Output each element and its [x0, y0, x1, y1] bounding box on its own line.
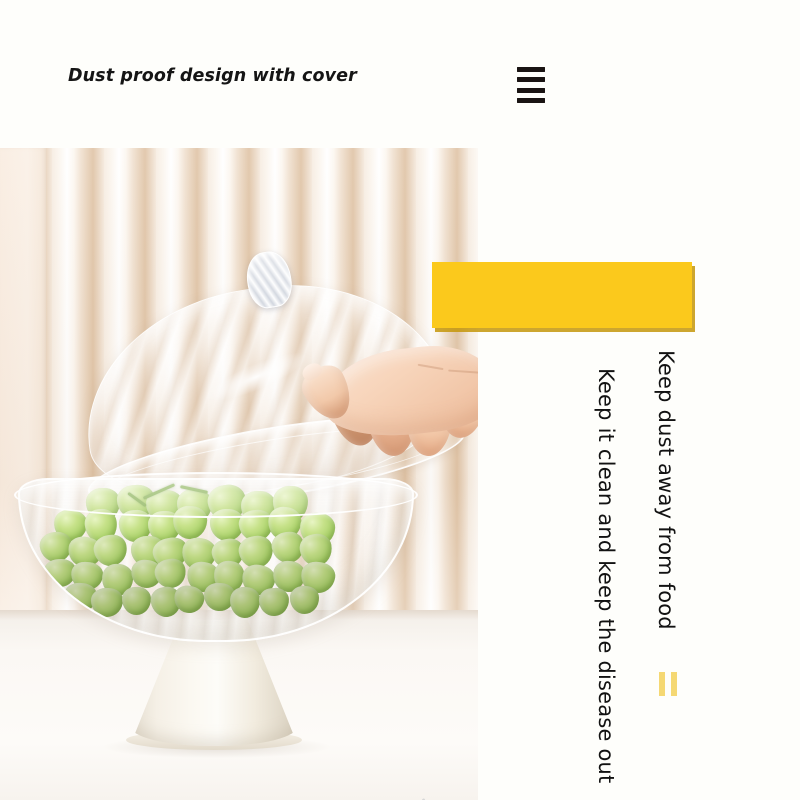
pause-bar-1 — [659, 672, 665, 696]
vertical-benefit-primary: Keep dust away from food — [654, 350, 678, 630]
menu-bar-1 — [517, 67, 545, 72]
knuckle-crease-2 — [448, 369, 478, 373]
grape — [122, 587, 152, 616]
menu-bar-4 — [517, 98, 545, 103]
page-title: Dust proof design with cover — [68, 66, 357, 86]
menu-bar-2 — [517, 77, 545, 82]
pause-bar-2 — [671, 672, 677, 696]
grape — [290, 586, 320, 614]
product-photo — [0, 148, 478, 800]
pause-mark-icon — [659, 672, 677, 696]
hand — [268, 344, 478, 494]
grape — [91, 587, 124, 617]
grape — [259, 587, 290, 616]
bowl-rim — [14, 472, 418, 518]
menu-bar-3 — [517, 88, 545, 93]
grape — [230, 587, 262, 619]
knuckle-crease-1 — [418, 364, 444, 370]
glass-fruit-bowl — [18, 478, 410, 746]
yellow-accent-bar — [432, 262, 692, 328]
vertical-benefit-secondary: Keep it clean and keep the disease out — [594, 368, 618, 783]
product-marketing-page: Dust proof design with cover — [0, 0, 800, 800]
hamburger-menu-icon[interactable] — [517, 67, 545, 103]
